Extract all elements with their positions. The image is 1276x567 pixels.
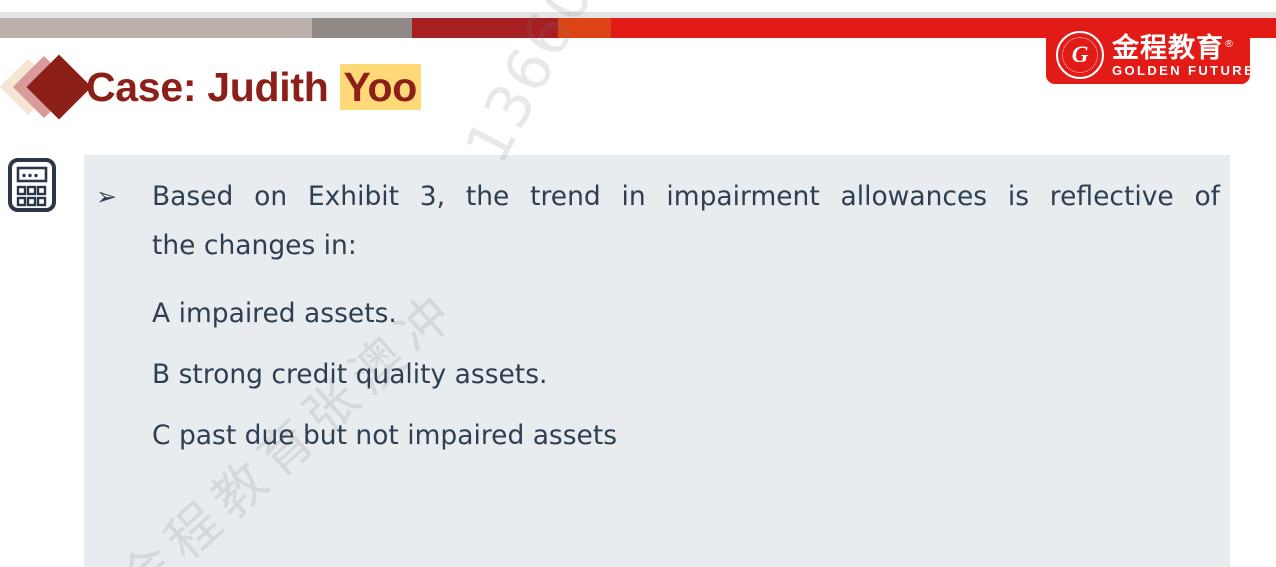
answer-choice-a-text: impaired assets.: [179, 298, 397, 329]
brand-logo-text: 金程教育® GOLDEN FUTURE: [1112, 31, 1250, 79]
answer-choices: A impaired assets. B strong credit quali…: [152, 283, 1224, 466]
question-stem: Based on Exhibit 3, the trend in impairm…: [152, 172, 1224, 270]
brand-seal-icon: G: [1056, 31, 1104, 79]
band-segment-orange: [558, 18, 611, 38]
band-segment-light-warm-gray: [0, 18, 312, 38]
question-stem-line-2: the changes in:: [152, 221, 1224, 270]
answer-choice-c[interactable]: C past due but not impaired assets: [152, 405, 1224, 466]
diamond-icon: [6, 52, 82, 122]
answer-choice-a[interactable]: A impaired assets.: [152, 283, 1224, 344]
band-segment-mid-gray: [312, 18, 412, 38]
answer-choice-b[interactable]: B strong credit quality assets.: [152, 344, 1224, 405]
page-title-prefix: Case: Judith: [86, 64, 340, 110]
question-block: ➢ Based on Exhibit 3, the trend in impai…: [96, 172, 1224, 466]
brand-logo: G 金程教育® GOLDEN FUTURE: [1046, 26, 1250, 84]
brand-name-en: GOLDEN FUTURE: [1112, 63, 1250, 79]
brand-name-cn: 金程教育®: [1112, 31, 1250, 63]
answer-choice-b-letter: B: [152, 359, 170, 390]
page-title-highlight: Yoo: [340, 64, 422, 110]
question-stem-line-1: Based on Exhibit 3, the trend in impairm…: [152, 172, 1220, 221]
top-white-strip: [0, 0, 1276, 12]
registered-mark: ®: [1224, 39, 1235, 50]
answer-choice-a-letter: A: [152, 298, 170, 329]
brand-name-cn-label: 金程教育: [1112, 33, 1224, 64]
calculator-icon: [6, 157, 58, 213]
band-segment-dark-red: [412, 18, 558, 38]
answer-choice-c-text: past due but not impaired assets: [179, 420, 617, 451]
page-title: Case: Judith Yoo: [86, 58, 421, 116]
slide-root: Case: Judith Yoo G 金程教育® GOLDEN FUTURE: [0, 0, 1276, 567]
answer-choice-c-letter: C: [152, 420, 171, 451]
bullet-arrow-icon: ➢: [96, 172, 152, 221]
question-stem-row: ➢ Based on Exhibit 3, the trend in impai…: [96, 172, 1224, 270]
answer-choice-b-text: strong credit quality assets.: [179, 359, 548, 390]
brand-seal-letter: G: [1058, 43, 1102, 66]
